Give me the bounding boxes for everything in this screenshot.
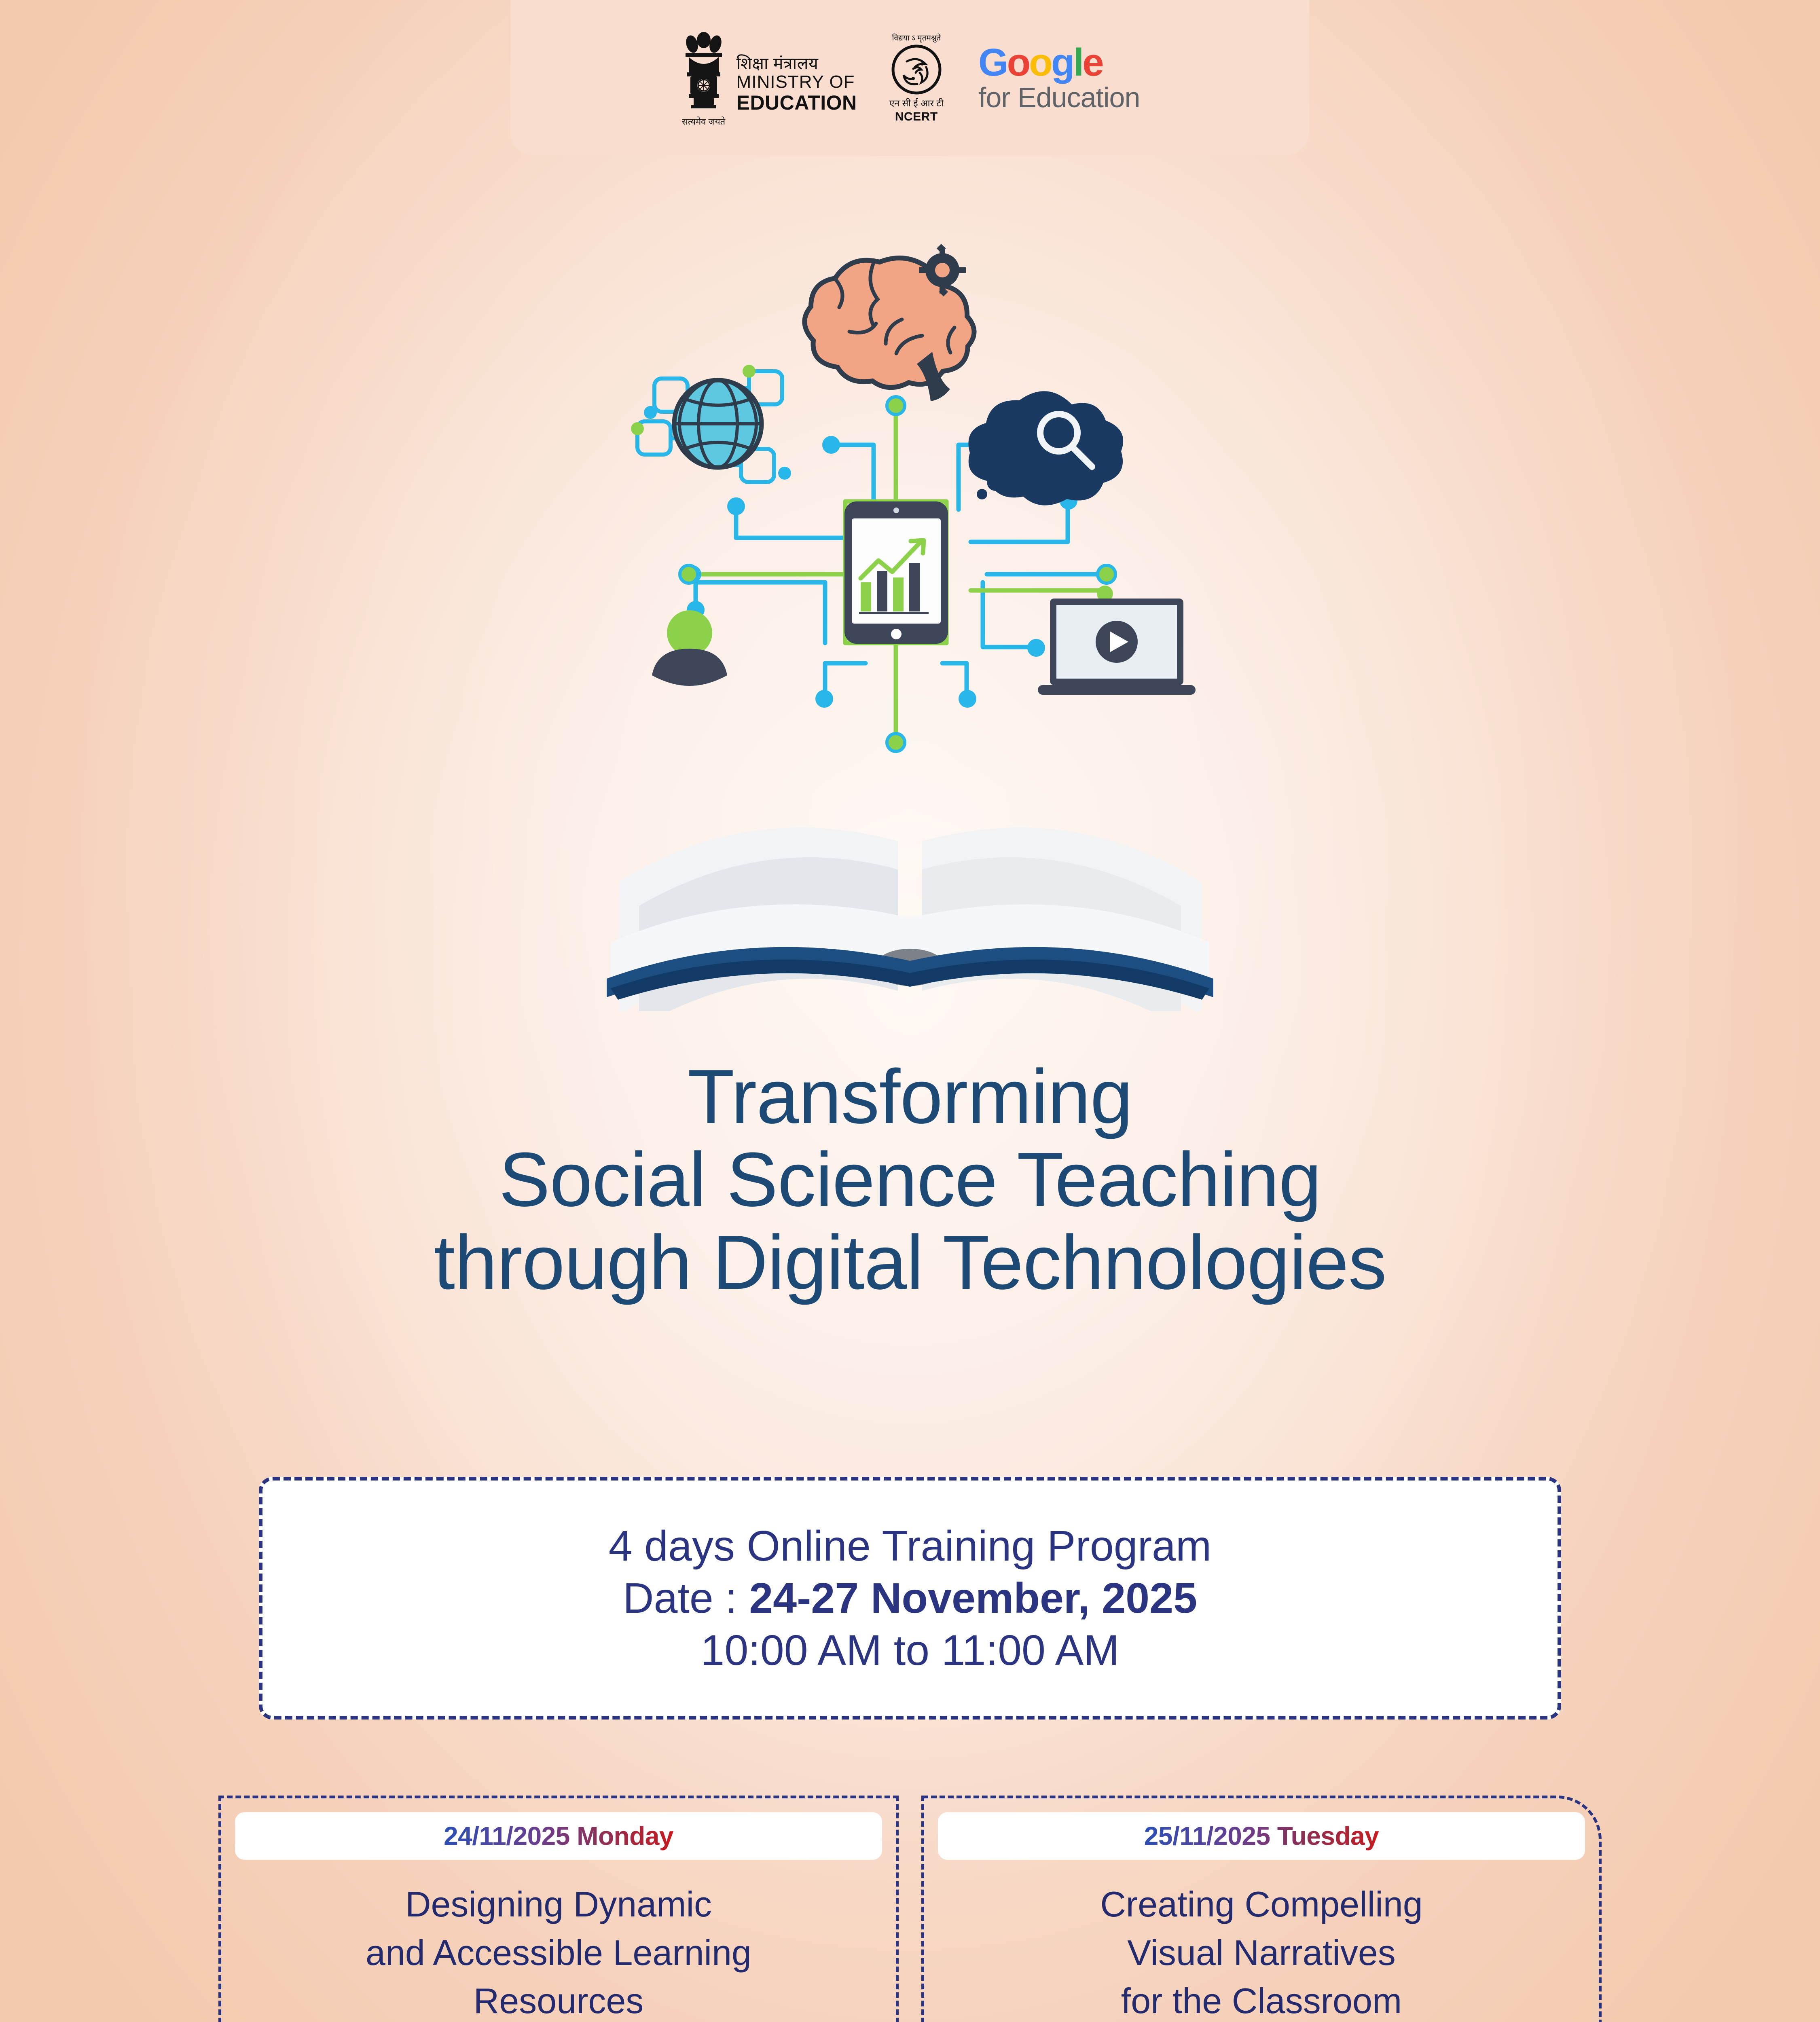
program-duration: 4 days Online Training Program (609, 1522, 1212, 1571)
session-title-1: Designing Dynamicand Accessible Learning… (235, 1880, 882, 2022)
session-grid: 24/11/2025 Monday Designing Dynamicand A… (218, 1796, 1602, 2022)
hero-illustration (566, 218, 1254, 1011)
ministry-name-line2: EDUCATION (736, 92, 857, 114)
tablet-chart-icon (844, 501, 948, 644)
open-book-icon (607, 828, 1213, 1011)
title-line-3: through Digital Technologies (0, 1221, 1820, 1304)
page-title: Transforming Social Science Teaching thr… (0, 1055, 1820, 1305)
session-card-2: 25/11/2025 Tuesday Creating CompellingVi… (921, 1796, 1602, 2022)
globe-network-icon (631, 365, 791, 482)
ashoka-emblem-icon (680, 29, 728, 118)
google-for-education-logo: Google for Education (978, 44, 1140, 112)
google-subtitle: for Education (978, 83, 1140, 112)
brain-gear-icon (804, 244, 974, 401)
session-date-badge-1: 24/11/2025 Monday (235, 1812, 882, 1860)
ncert-logo: विद्यया ऽ मृतमश्नुते एन सी ई आर टी NCERT (889, 32, 944, 124)
session-card-1: 24/11/2025 Monday Designing Dynamicand A… (218, 1796, 899, 2022)
person-avatar-icon (652, 610, 727, 686)
session-date-badge-2: 25/11/2025 Tuesday (938, 1812, 1585, 1860)
thought-bubble-search-icon (968, 391, 1123, 505)
ministry-of-education-logo: सत्यमेव जयते शिक्षा मंत्रालय MINISTRY OF… (680, 29, 857, 127)
ncert-emblem-icon (891, 44, 942, 95)
title-line-1: Transforming (0, 1055, 1820, 1138)
ncert-name-hindi: एन सी ई आर टी (889, 96, 944, 109)
date-value: 24-27 November, 2025 (749, 1574, 1197, 1622)
ncert-motto: विद्यया ऽ मृतमश्नुते (892, 32, 941, 43)
ncert-name-english: NCERT (895, 110, 938, 124)
ministry-name-hindi: शिक्षा मंत्रालय (736, 55, 857, 72)
date-label: Date : (623, 1574, 749, 1622)
google-wordmark: Google (978, 44, 1103, 81)
session-title-2: Creating CompellingVisual Narrativesfor … (938, 1880, 1585, 2022)
title-line-2: Social Science Teaching (0, 1138, 1820, 1221)
header-logo-bar: सत्यमेव जयते शिक्षा मंत्रालय MINISTRY OF… (510, 0, 1309, 156)
program-date: Date : 24-27 November, 2025 (623, 1574, 1197, 1623)
laptop-play-icon (1038, 599, 1196, 695)
program-time: 10:00 AM to 11:00 AM (700, 1626, 1119, 1675)
session-date-text-2: 25/11/2025 Tuesday (1144, 1821, 1379, 1851)
session-date-text-1: 24/11/2025 Monday (444, 1821, 673, 1851)
program-info-box: 4 days Online Training Program Date : 24… (259, 1477, 1561, 1720)
ministry-name-line1: MINISTRY OF (736, 72, 857, 92)
